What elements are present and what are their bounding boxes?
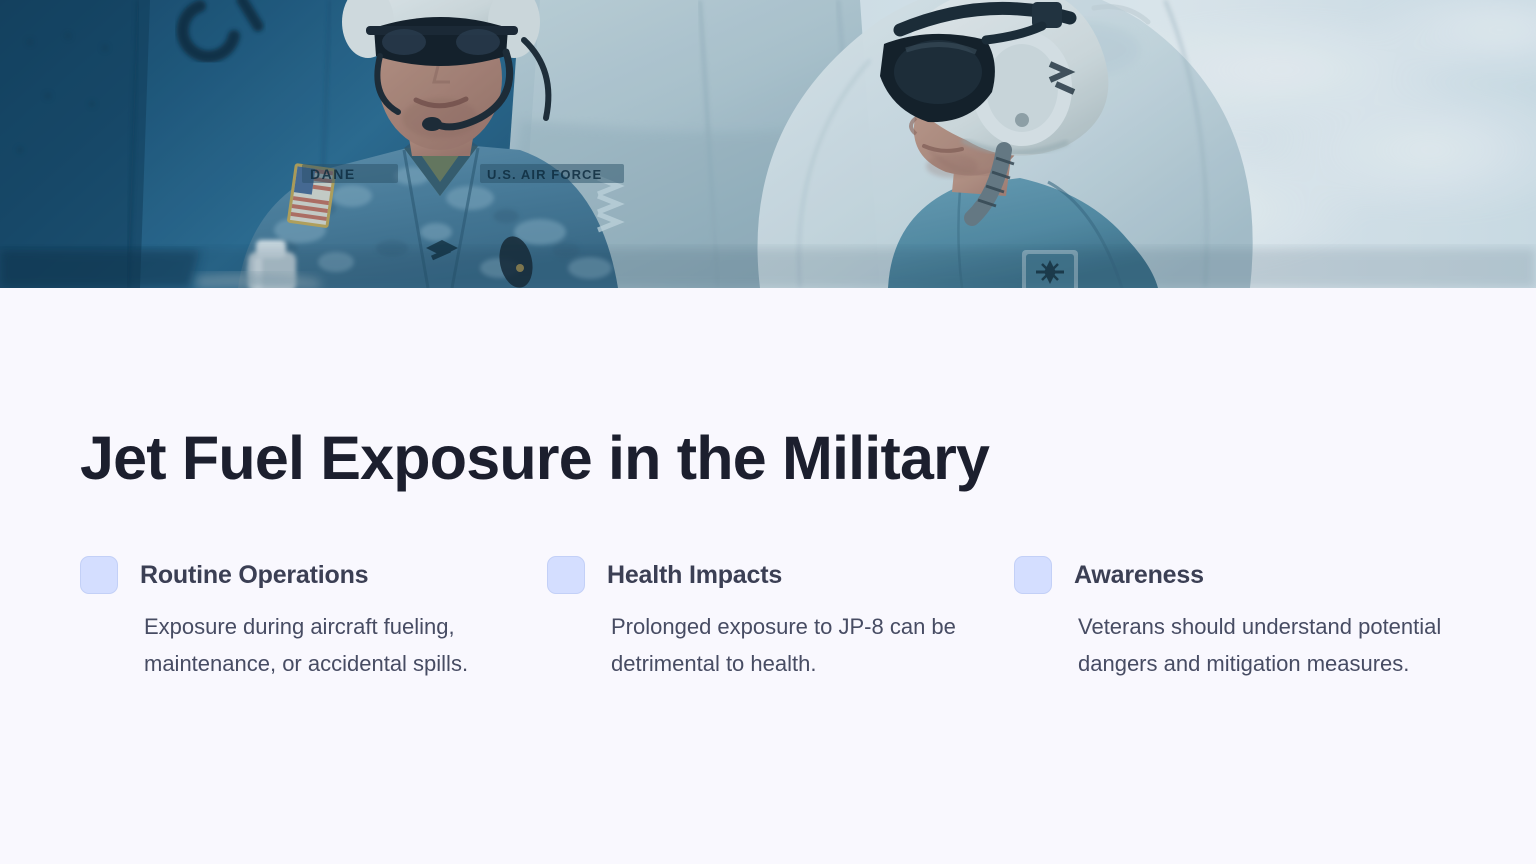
feature-columns: Routine Operations Exposure during aircr… <box>80 555 1490 683</box>
feature-heading-row: Routine Operations <box>80 555 547 595</box>
feature-title: Routine Operations <box>140 561 368 590</box>
hero-image: DANE U.S. AIR FORCE <box>0 0 1536 288</box>
feature-heading-row: Awareness <box>1014 555 1481 595</box>
feature-body: Veterans should understand potential dan… <box>1078 609 1456 683</box>
page-title: Jet Fuel Exposure in the Military <box>80 428 989 489</box>
feature-body: Prolonged exposure to JP-8 can be detrim… <box>611 609 971 683</box>
rounded-square-icon <box>1014 556 1052 594</box>
feature-column-health-impacts: Health Impacts Prolonged exposure to JP-… <box>547 555 1014 683</box>
feature-column-awareness: Awareness Veterans should understand pot… <box>1014 555 1481 683</box>
feature-heading-row: Health Impacts <box>547 555 1014 595</box>
slide-page: DANE U.S. AIR FORCE <box>0 0 1536 864</box>
feature-title: Health Impacts <box>607 561 782 590</box>
rounded-square-icon <box>80 556 118 594</box>
rounded-square-icon <box>547 556 585 594</box>
feature-body: Exposure during aircraft fueling, mainte… <box>144 609 496 683</box>
feature-column-routine-operations: Routine Operations Exposure during aircr… <box>80 555 547 683</box>
content-section: Jet Fuel Exposure in the Military Routin… <box>0 288 1536 864</box>
hero-illustration: DANE U.S. AIR FORCE <box>0 0 1536 288</box>
feature-title: Awareness <box>1074 561 1204 590</box>
